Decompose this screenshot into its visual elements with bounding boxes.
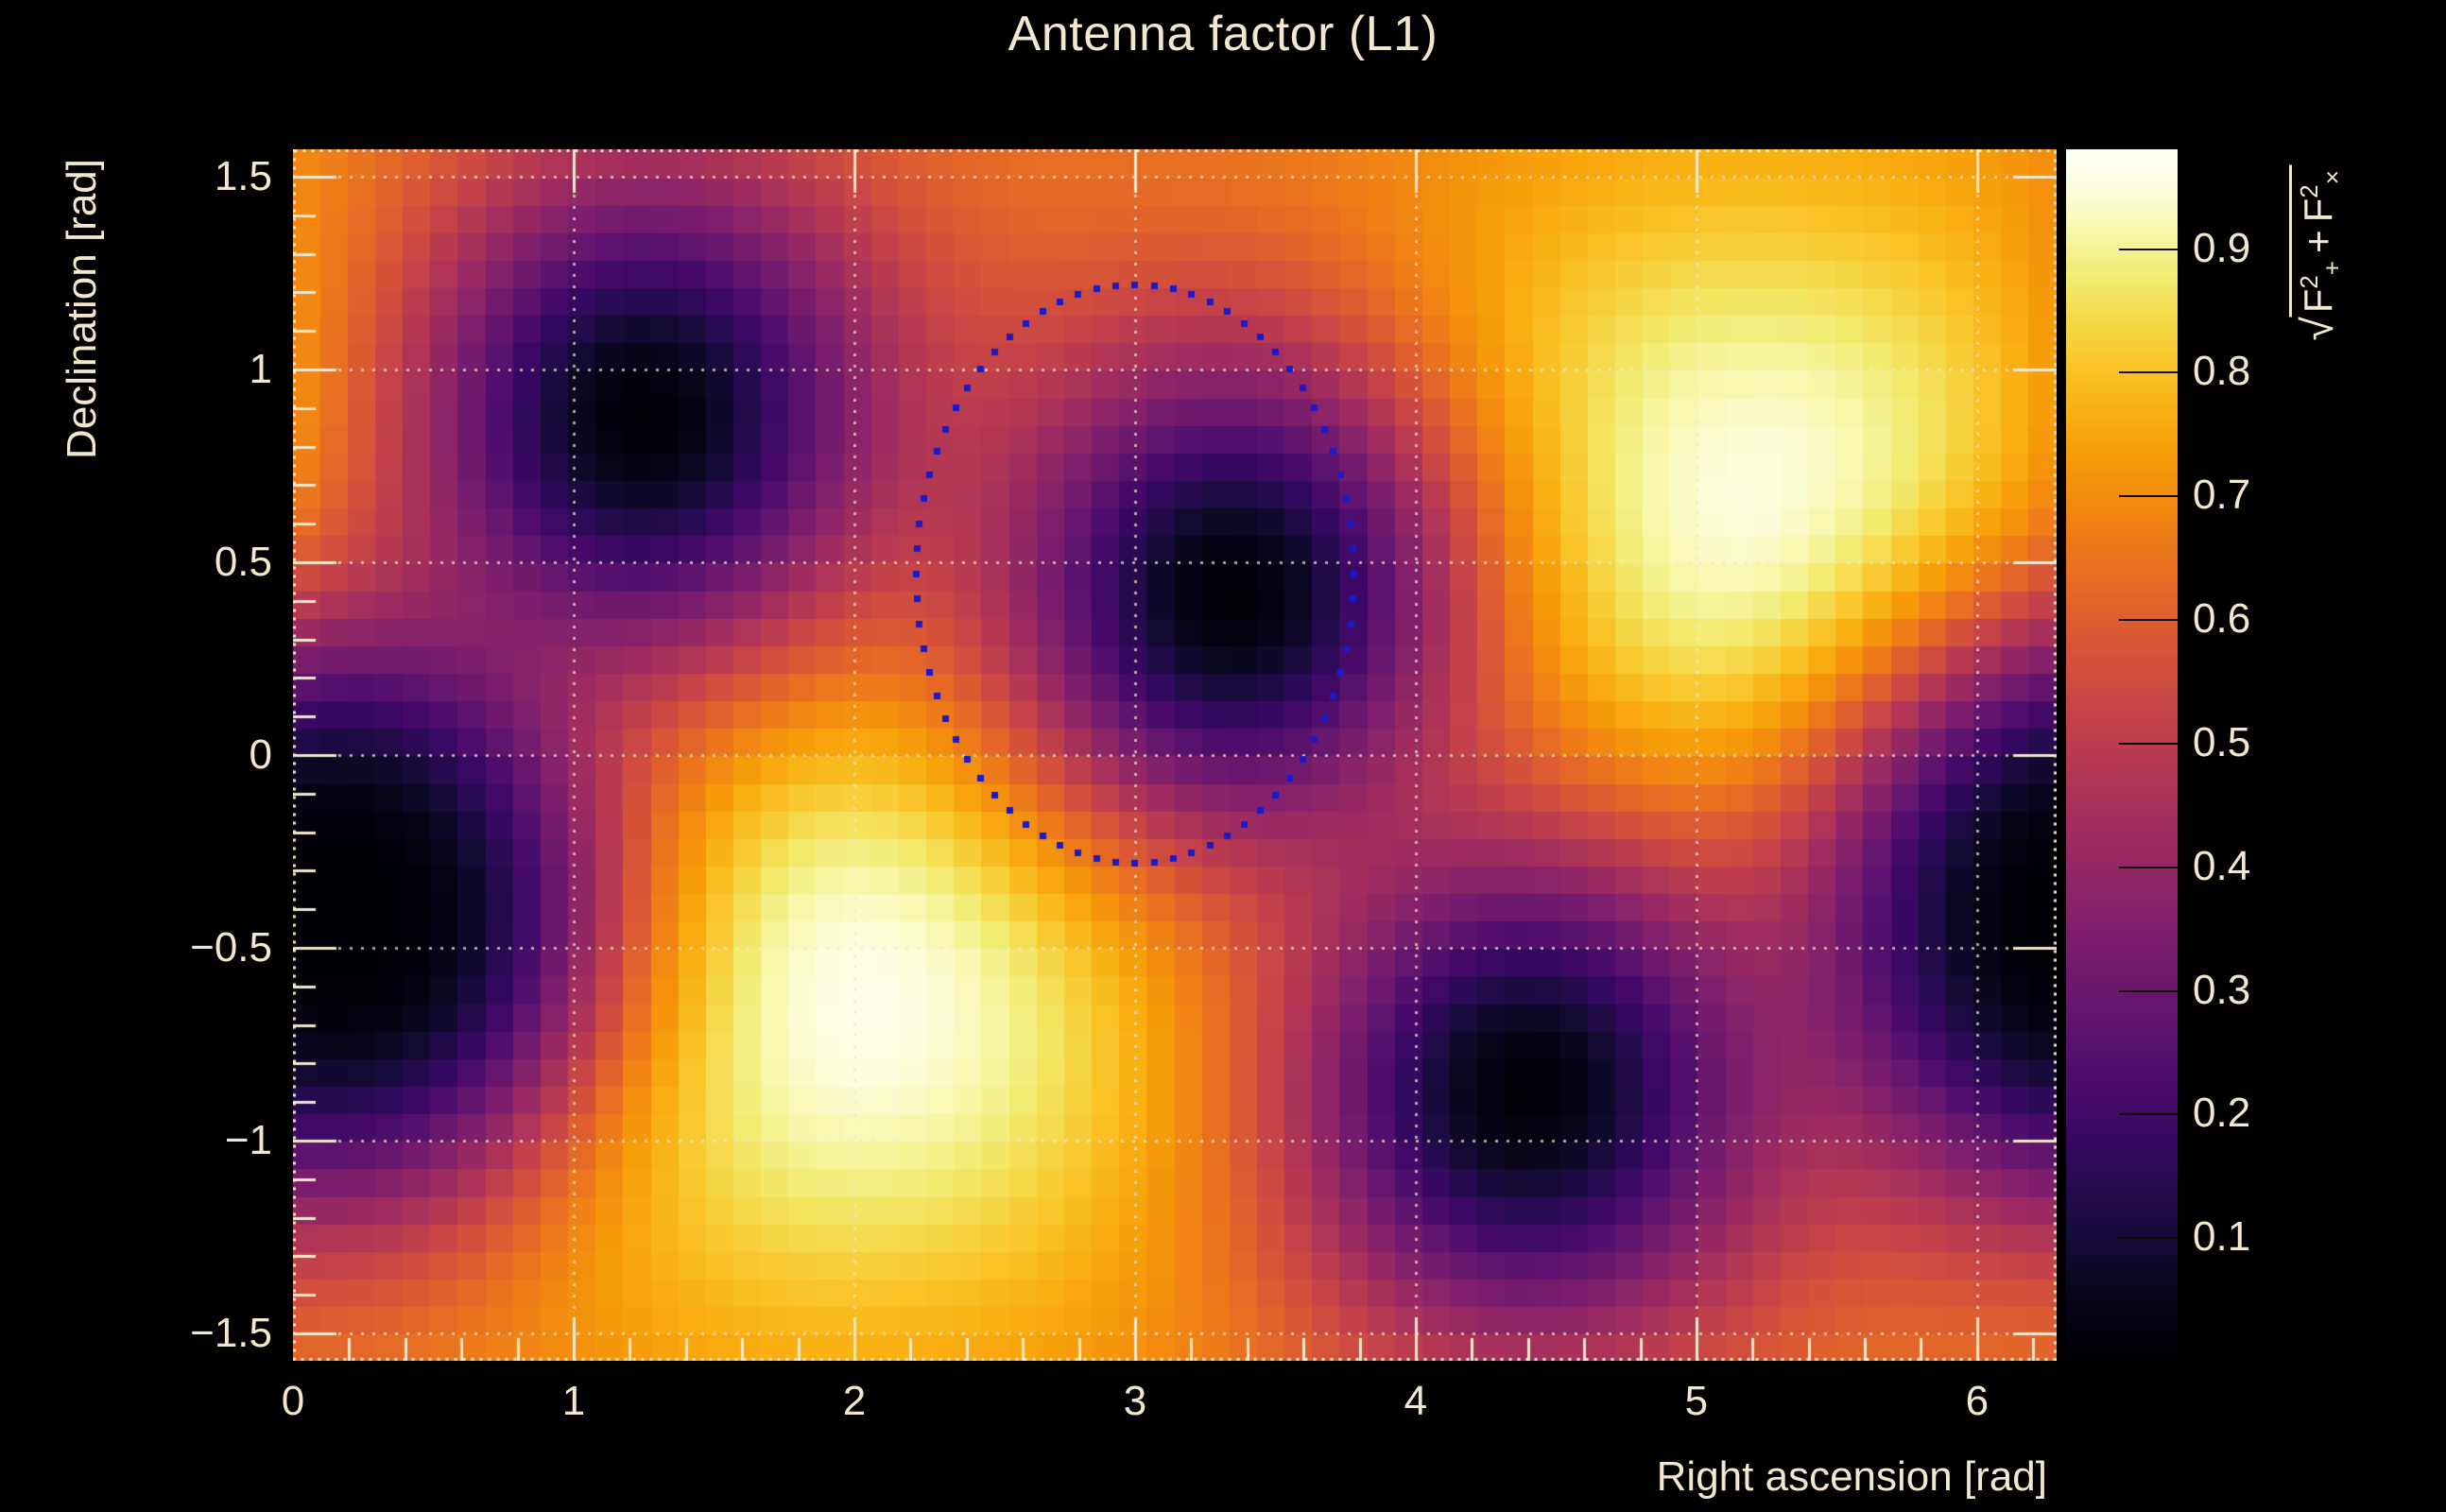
y-tick-label-2: 0.5 [0,539,272,586]
color-scale-tick-7 [2119,371,2178,373]
radical-icon: √ [2296,317,2339,340]
color-scale-tick-0 [2119,1237,2178,1239]
color-scale-tick-4 [2119,743,2178,745]
y-tick-label-3: 0 [0,731,272,779]
f-plus-subscript: + [2317,261,2346,275]
f-cross-exponent: 2 [2295,184,2323,198]
f-plus-symbol: F [2296,289,2340,314]
color-scale-bar[interactable] [2066,149,2178,1361]
x-tick-label-4: 4 [1404,1378,1427,1425]
grid-and-markers-overlay [293,149,2057,1361]
color-scale-tick-3 [2119,867,2178,868]
plot-canvas-root: Antenna factor (L1) Declination [rad] 1.… [0,0,2446,1512]
x-tick-label-1: 1 [562,1378,585,1425]
z-tick-label-3: 0.4 [2193,843,2250,890]
f-cross-subscript: × [2317,170,2346,184]
f-cross-symbol: F [2296,198,2340,223]
y-axis-title: Declination [rad] [59,159,106,459]
z-tick-label-2: 0.3 [2193,967,2250,1014]
y-tick-label-1: 1 [0,346,272,393]
plus-operator: + [2296,222,2340,261]
x-tick-label-0: 0 [282,1378,304,1425]
color-scale-tick-8 [2119,249,2178,250]
color-scale-tick-1 [2119,1113,2178,1115]
x-tick-label-3: 3 [1124,1378,1146,1425]
x-tick-label-5: 5 [1685,1378,1708,1425]
z-tick-label-5: 0.6 [2193,595,2250,643]
z-tick-label-8: 0.9 [2193,225,2250,272]
y-tick-label-4: −0.5 [0,924,272,971]
x-tick-label-6: 6 [1966,1378,1989,1425]
x-tick-label-2: 2 [843,1378,866,1425]
z-tick-label-1: 0.2 [2193,1090,2250,1137]
sqrt-expression: √F2++F2× [2289,164,2346,346]
radicand: F2++F2× [2289,164,2346,317]
color-scale-tick-6 [2119,495,2178,497]
z-tick-label-4: 0.5 [2193,719,2250,766]
x-axis-title: Right ascension [rad] [1657,1453,2047,1501]
z-tick-label-6: 0.7 [2193,472,2250,519]
color-scale-gradient [2066,149,2178,1361]
z-tick-label-0: 0.1 [2193,1213,2250,1261]
page-title: Antenna factor (L1) [0,6,2446,62]
z-tick-label-7: 0.8 [2193,348,2250,395]
color-scale-tick-5 [2119,619,2178,621]
color-scale-tick-2 [2119,990,2178,992]
f-plus-exponent: 2 [2295,275,2323,288]
z-axis-title: √F2++F2× [2289,164,2346,346]
heatmap-plot-area[interactable] [293,149,2057,1361]
y-tick-label-6: −1.5 [0,1310,272,1357]
y-tick-label-0: 1.5 [0,153,272,200]
y-tick-label-5: −1 [0,1117,272,1164]
